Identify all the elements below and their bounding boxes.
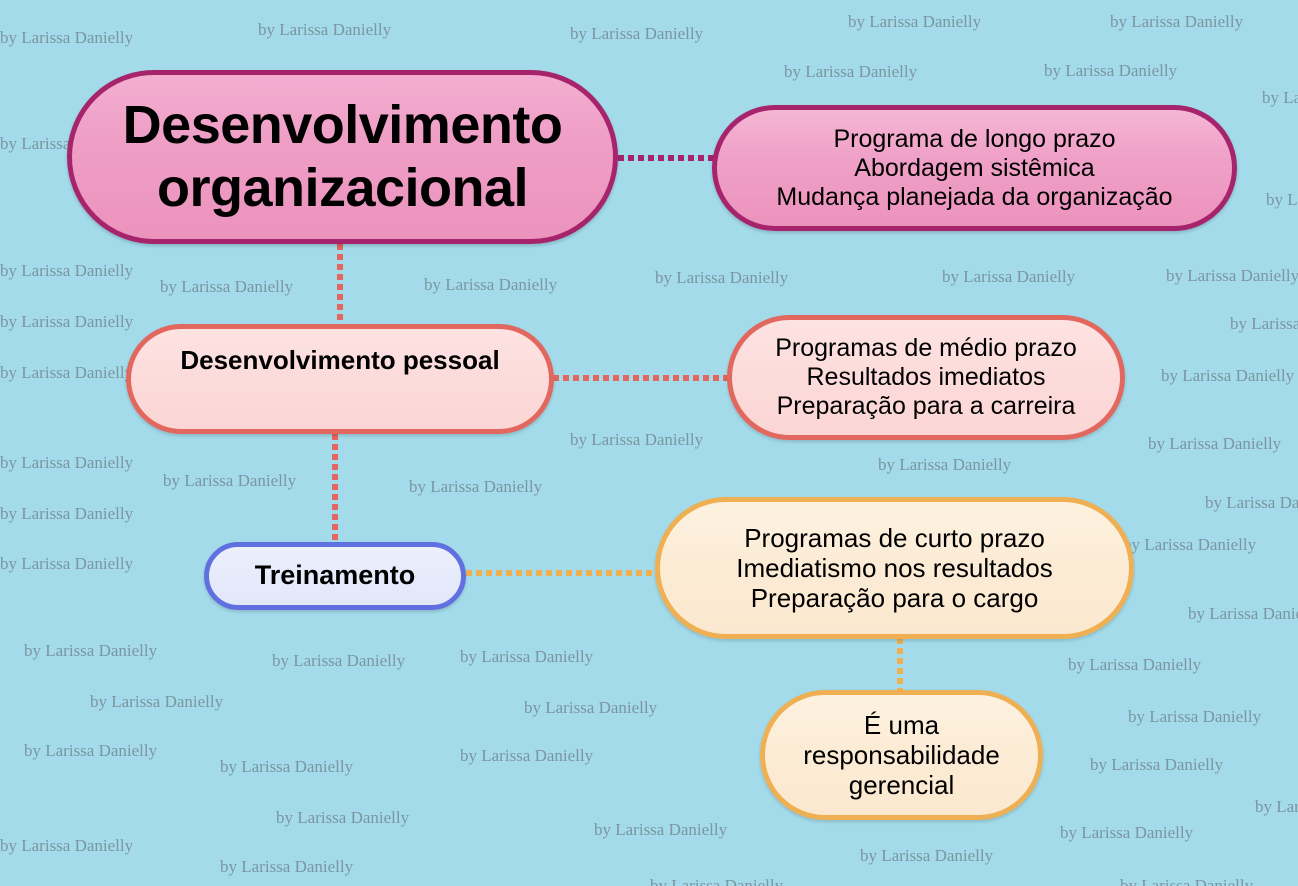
- node-line-3: gerencial: [849, 770, 955, 800]
- node-line-3: Mudança planejada da organização: [776, 183, 1172, 211]
- node-programas-curto-prazo[interactable]: Programas de curto prazo Imediatismo nos…: [655, 497, 1134, 639]
- node-line-2: Resultados imediatos: [806, 363, 1045, 391]
- node-programa-longo-prazo[interactable]: Programa de longo prazo Abordagem sistêm…: [712, 105, 1237, 231]
- node-desenvolvimento-organizacional[interactable]: Desenvolvimento organizacional: [67, 70, 618, 244]
- node-line-2: organizacional: [157, 158, 528, 218]
- mind-map-canvas: by Larissa Daniellyby Larissa Daniellyby…: [0, 0, 1298, 886]
- node-label: Programas de médio prazo Resultados imed…: [732, 334, 1120, 421]
- node-label: Programas de curto prazo Imediatismo nos…: [660, 523, 1129, 613]
- node-line-1: Programas de médio prazo: [775, 334, 1077, 362]
- node-line-1: É uma: [864, 710, 939, 740]
- node-label: É uma responsabilidade gerencial: [765, 710, 1038, 800]
- node-line-3: Preparação para o cargo: [751, 583, 1039, 613]
- node-programas-medio-prazo[interactable]: Programas de médio prazo Resultados imed…: [727, 315, 1125, 440]
- node-line-3: Preparação para a carreira: [777, 392, 1076, 420]
- node-layer: Desenvolvimento organizacional Programa …: [0, 0, 1298, 886]
- node-responsabilidade-gerencial[interactable]: É uma responsabilidade gerencial: [760, 690, 1043, 820]
- node-label: Treinamento: [209, 560, 461, 591]
- node-line-1: Programa de longo prazo: [833, 125, 1115, 153]
- node-line-2: Abordagem sistêmica: [854, 154, 1094, 182]
- node-line-1: Programas de curto prazo: [744, 523, 1045, 553]
- node-label: Desenvolvimento organizacional: [72, 94, 613, 219]
- node-treinamento[interactable]: Treinamento: [204, 542, 466, 610]
- node-line-2: responsabilidade: [803, 740, 1000, 770]
- node-desenvolvimento-pessoal[interactable]: Desenvolvimento pessoal: [126, 324, 554, 434]
- node-line-1: Desenvolvimento: [123, 95, 563, 155]
- node-label: Desenvolvimento pessoal: [131, 345, 549, 375]
- node-line-2: Imediatismo nos resultados: [736, 553, 1052, 583]
- node-label: Programa de longo prazo Abordagem sistêm…: [717, 125, 1232, 212]
